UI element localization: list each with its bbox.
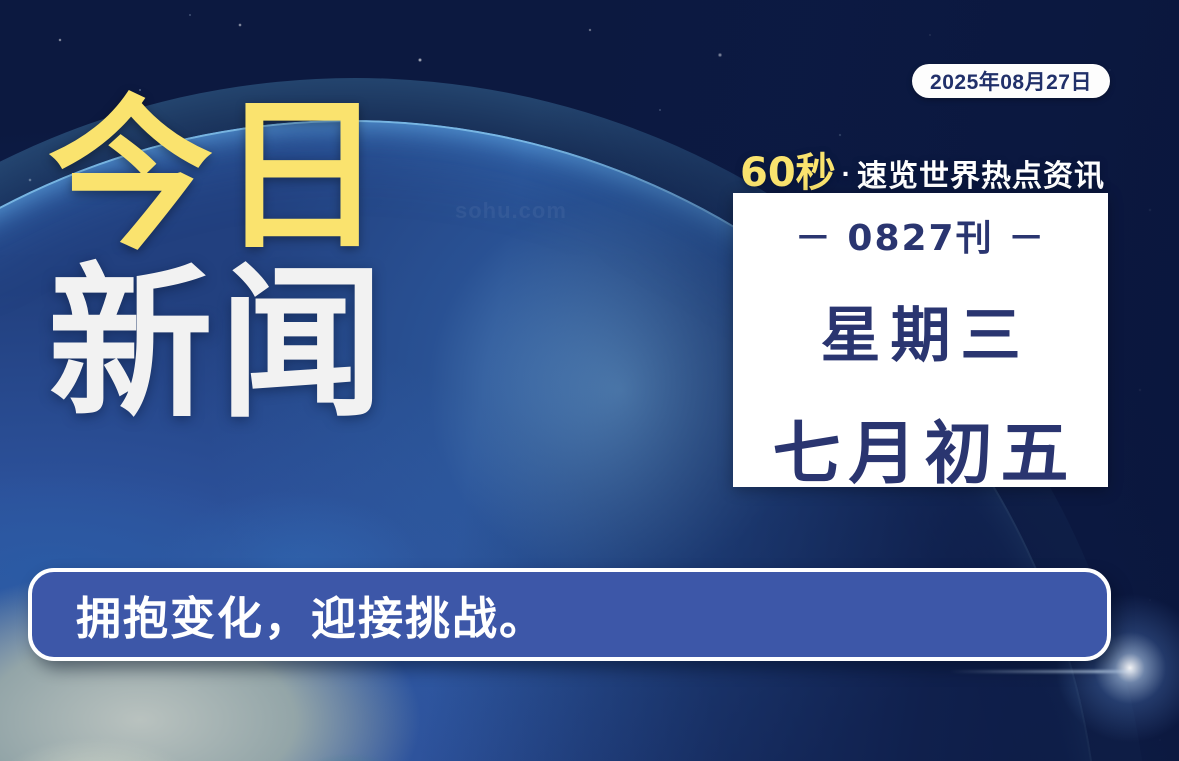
date-badge-label: 2025年08月27日 <box>930 66 1092 96</box>
weekday-label: 星期三 <box>811 287 1031 374</box>
news-poster: sohu.com 今日 新闻 2025年08月27日 60秒 · 速览世界热点资… <box>0 0 1179 761</box>
date-badge: 2025年08月27日 <box>912 64 1110 98</box>
headline-line-1: 今日 <box>48 96 390 258</box>
quote-banner: 拥抱变化，迎接挑战。 <box>28 568 1111 661</box>
page-title: 今日 新闻 <box>48 96 390 425</box>
tagline-seconds: 60秒 <box>740 140 836 198</box>
tagline: 60秒 · 速览世界热点资讯 <box>740 140 1105 198</box>
tagline-separator: · <box>842 158 851 190</box>
info-card: － 0827刊 － 星期三 七月初五 <box>733 193 1108 487</box>
headline-line-2: 新闻 <box>48 264 390 426</box>
tagline-text: 速览世界热点资讯 <box>857 151 1105 195</box>
lunar-date-label: 七月初五 <box>764 398 1076 497</box>
quote-text: 拥抱变化，迎接挑战。 <box>32 582 546 647</box>
issue-number: － 0827刊 － <box>795 209 1046 261</box>
